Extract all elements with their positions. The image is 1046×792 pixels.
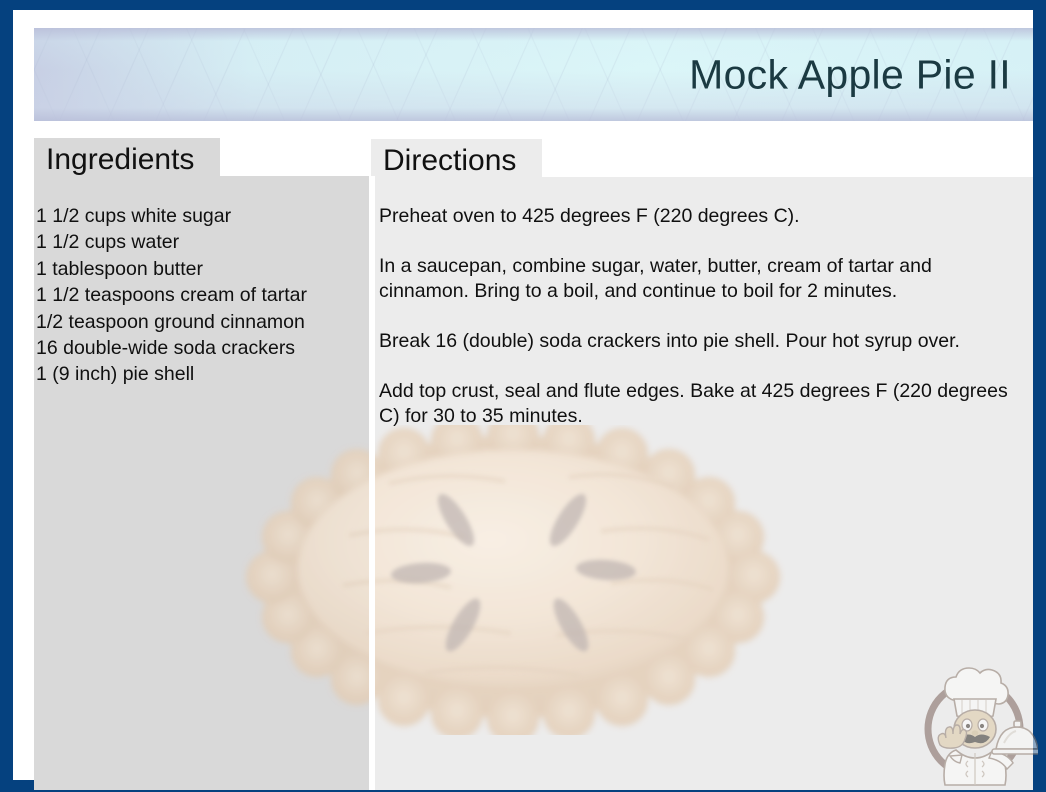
ingredients-list: 1 1/2 cups white sugar 1 1/2 cups water … bbox=[36, 203, 366, 388]
direction-step: Preheat oven to 425 degrees F (220 degre… bbox=[379, 204, 1027, 229]
recipe-card: Mock Apple Pie II bbox=[0, 0, 1046, 792]
list-item: 1 1/2 cups white sugar bbox=[36, 203, 366, 229]
list-item: 1 1/2 teaspoons cream of tartar bbox=[36, 282, 366, 308]
directions-list: Preheat oven to 425 degrees F (220 degre… bbox=[379, 204, 1027, 429]
list-item: 1/2 teaspoon ground cinnamon bbox=[36, 309, 366, 335]
direction-step: In a saucepan, combine sugar, water, but… bbox=[379, 254, 1027, 304]
list-item: 1 tablespoon butter bbox=[36, 256, 366, 282]
panel-divider bbox=[369, 176, 375, 790]
list-item: 16 double-wide soda crackers bbox=[36, 335, 366, 361]
ingredients-heading: Ingredients bbox=[34, 138, 220, 183]
directions-heading: Directions bbox=[371, 139, 542, 184]
title-banner: Mock Apple Pie II bbox=[34, 28, 1033, 121]
card-page: Mock Apple Pie II bbox=[13, 10, 1033, 780]
direction-step: Break 16 (double) soda crackers into pie… bbox=[379, 329, 1027, 354]
list-item: 1 (9 inch) pie shell bbox=[36, 361, 366, 387]
list-item: 1 1/2 cups water bbox=[36, 229, 366, 255]
direction-step: Add top crust, seal and flute edges. Bak… bbox=[379, 379, 1027, 429]
page-title: Mock Apple Pie II bbox=[689, 51, 1011, 98]
